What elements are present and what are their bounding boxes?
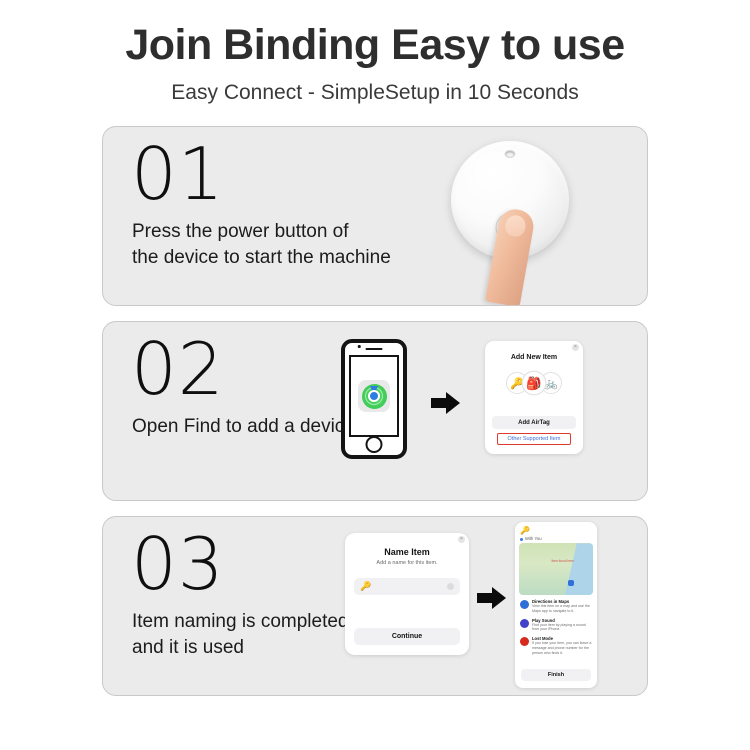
earpiece-speaker	[366, 348, 383, 350]
continue-button[interactable]: Continue	[354, 628, 460, 645]
option-body: If you lose your item, you can leave a m…	[532, 641, 592, 655]
status-dot	[520, 538, 523, 541]
add-airtag-button[interactable]: Add AirTag	[492, 416, 576, 429]
find-app-illustration: × Add New Item 🔑 🎒 🚲 Add AirTag Other Su…	[309, 322, 639, 501]
right-arrow-icon	[477, 587, 507, 609]
name-item-dialog: × Name Item Add a name for this item. 🔑 …	[345, 533, 469, 655]
page-subtitle: Easy Connect - SimpleSetup in 10 Seconds	[0, 81, 750, 104]
option-body: Find your item by playing a sound from y…	[532, 623, 592, 632]
backpack-icon: 🎒	[522, 371, 547, 396]
status-label: With You	[525, 536, 542, 541]
fingernail	[504, 214, 527, 238]
iphone-mockup	[341, 339, 407, 459]
play-sound-icon	[520, 619, 529, 628]
lost-mode-icon	[520, 637, 529, 646]
status-badge: With You	[520, 536, 592, 541]
step-card-02: 02 Open Find to add a device	[102, 321, 648, 501]
finish-button[interactable]: Finish	[521, 669, 591, 681]
page-title: Join Binding Easy to use	[0, 22, 750, 69]
option-lost-mode[interactable]: Lost Mode If you lose your item, you can…	[520, 636, 592, 655]
radar-dot	[368, 390, 380, 402]
page-header: Join Binding Easy to use Easy Connect - …	[0, 0, 750, 104]
map-location-label: Item found here	[552, 559, 574, 563]
action-options-list: Directions in Maps View this item on a m…	[515, 595, 597, 655]
map-view[interactable]: Item found here	[519, 543, 593, 595]
home-button[interactable]	[366, 436, 383, 453]
dialog-title: Add New Item	[485, 341, 583, 361]
add-new-item-dialog: × Add New Item 🔑 🎒 🚲 Add AirTag Other Su…	[485, 341, 583, 454]
arrow-head	[446, 392, 460, 414]
steps-list: 01 Press the power button of the device …	[0, 126, 750, 696]
step-number: 03	[131, 525, 225, 604]
key-icon: 🔑	[360, 581, 371, 592]
key-icon: 🔑	[520, 526, 592, 535]
step-card-03: 03 Item naming is completed and it is us…	[102, 516, 648, 696]
arrow-head	[492, 587, 506, 609]
option-play-sound[interactable]: Play Sound Find your item by playing a s…	[520, 618, 592, 632]
right-arrow-icon	[431, 392, 461, 414]
other-supported-item-link[interactable]: Other Supported Item	[497, 433, 571, 445]
tracker-illustration	[433, 127, 623, 306]
panel-header: 🔑 With You	[515, 522, 597, 542]
step-description: Press the power button of the device to …	[132, 219, 391, 270]
step-card-01: 01 Press the power button of the device …	[102, 126, 648, 306]
map-water	[565, 543, 593, 595]
naming-illustration: × Name Item Add a name for this item. 🔑 …	[309, 517, 639, 696]
dialog-subtitle: Add a name for this item.	[345, 560, 469, 566]
step-number: 01	[131, 135, 225, 214]
item-detail-panel: 🔑 With You Item found here Directions in…	[515, 522, 597, 688]
dialog-title: Name Item	[345, 533, 469, 557]
phone-screen	[349, 355, 399, 437]
keyring-hole-icon	[505, 150, 516, 158]
item-name-input[interactable]: 🔑	[354, 578, 460, 595]
directions-icon	[520, 600, 529, 609]
find-my-icon[interactable]	[358, 380, 390, 412]
front-camera-icon	[358, 345, 361, 348]
step-number: 02	[131, 330, 225, 409]
option-body: View this item on a map and use the Maps…	[532, 604, 592, 613]
option-directions[interactable]: Directions in Maps View this item on a m…	[520, 599, 592, 613]
item-type-bubbles: 🔑 🎒 🚲	[485, 372, 583, 394]
find-my-radar	[362, 384, 387, 409]
clear-input-icon[interactable]	[447, 583, 454, 590]
map-location-pin	[568, 580, 574, 586]
